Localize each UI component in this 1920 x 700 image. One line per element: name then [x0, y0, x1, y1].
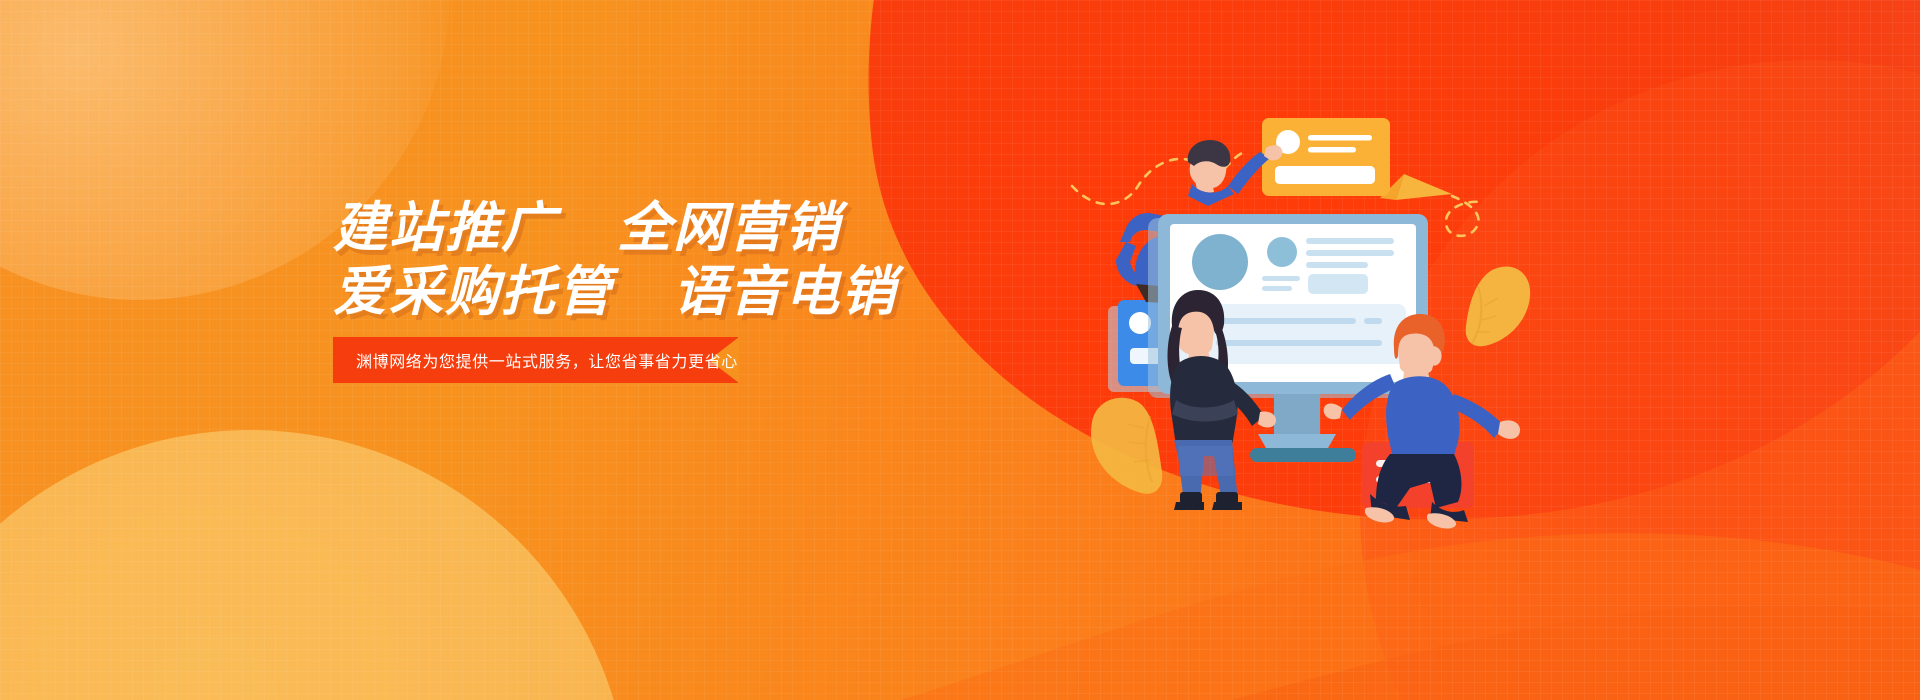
headline-line-2: 爱采购托管 语音电销: [333, 260, 1093, 324]
headline-line1-part1: 建站推广: [333, 198, 557, 258]
tagline-ribbon: 渊博网络为您提供一站式服务，让您省事省力更省心: [333, 337, 738, 383]
headline-line1-part2: 全网营销: [617, 198, 841, 258]
headline-line2-part1: 爱采购托管: [333, 262, 613, 322]
hero-illustration: [1080, 110, 1540, 530]
headline-group: 建站推广 全网营销 爱采购托管 语音电销: [333, 196, 1093, 324]
background-decoration: [0, 0, 1920, 700]
yellow-profile-card: [1262, 118, 1390, 196]
headline-line2-part2: 语音电销: [673, 262, 897, 322]
grid-texture: [0, 0, 1920, 700]
paper-plane-icon: [1380, 174, 1452, 200]
promo-banner: 建站推广 全网营销 爱采购托管 语音电销 渊博网络为您提供一站式服务，让您省事省…: [0, 0, 1920, 700]
headline-line-1: 建站推广 全网营销: [333, 196, 1093, 260]
ribbon-label: 渊博网络为您提供一站式服务，让您省事省力更省心: [356, 337, 738, 383]
